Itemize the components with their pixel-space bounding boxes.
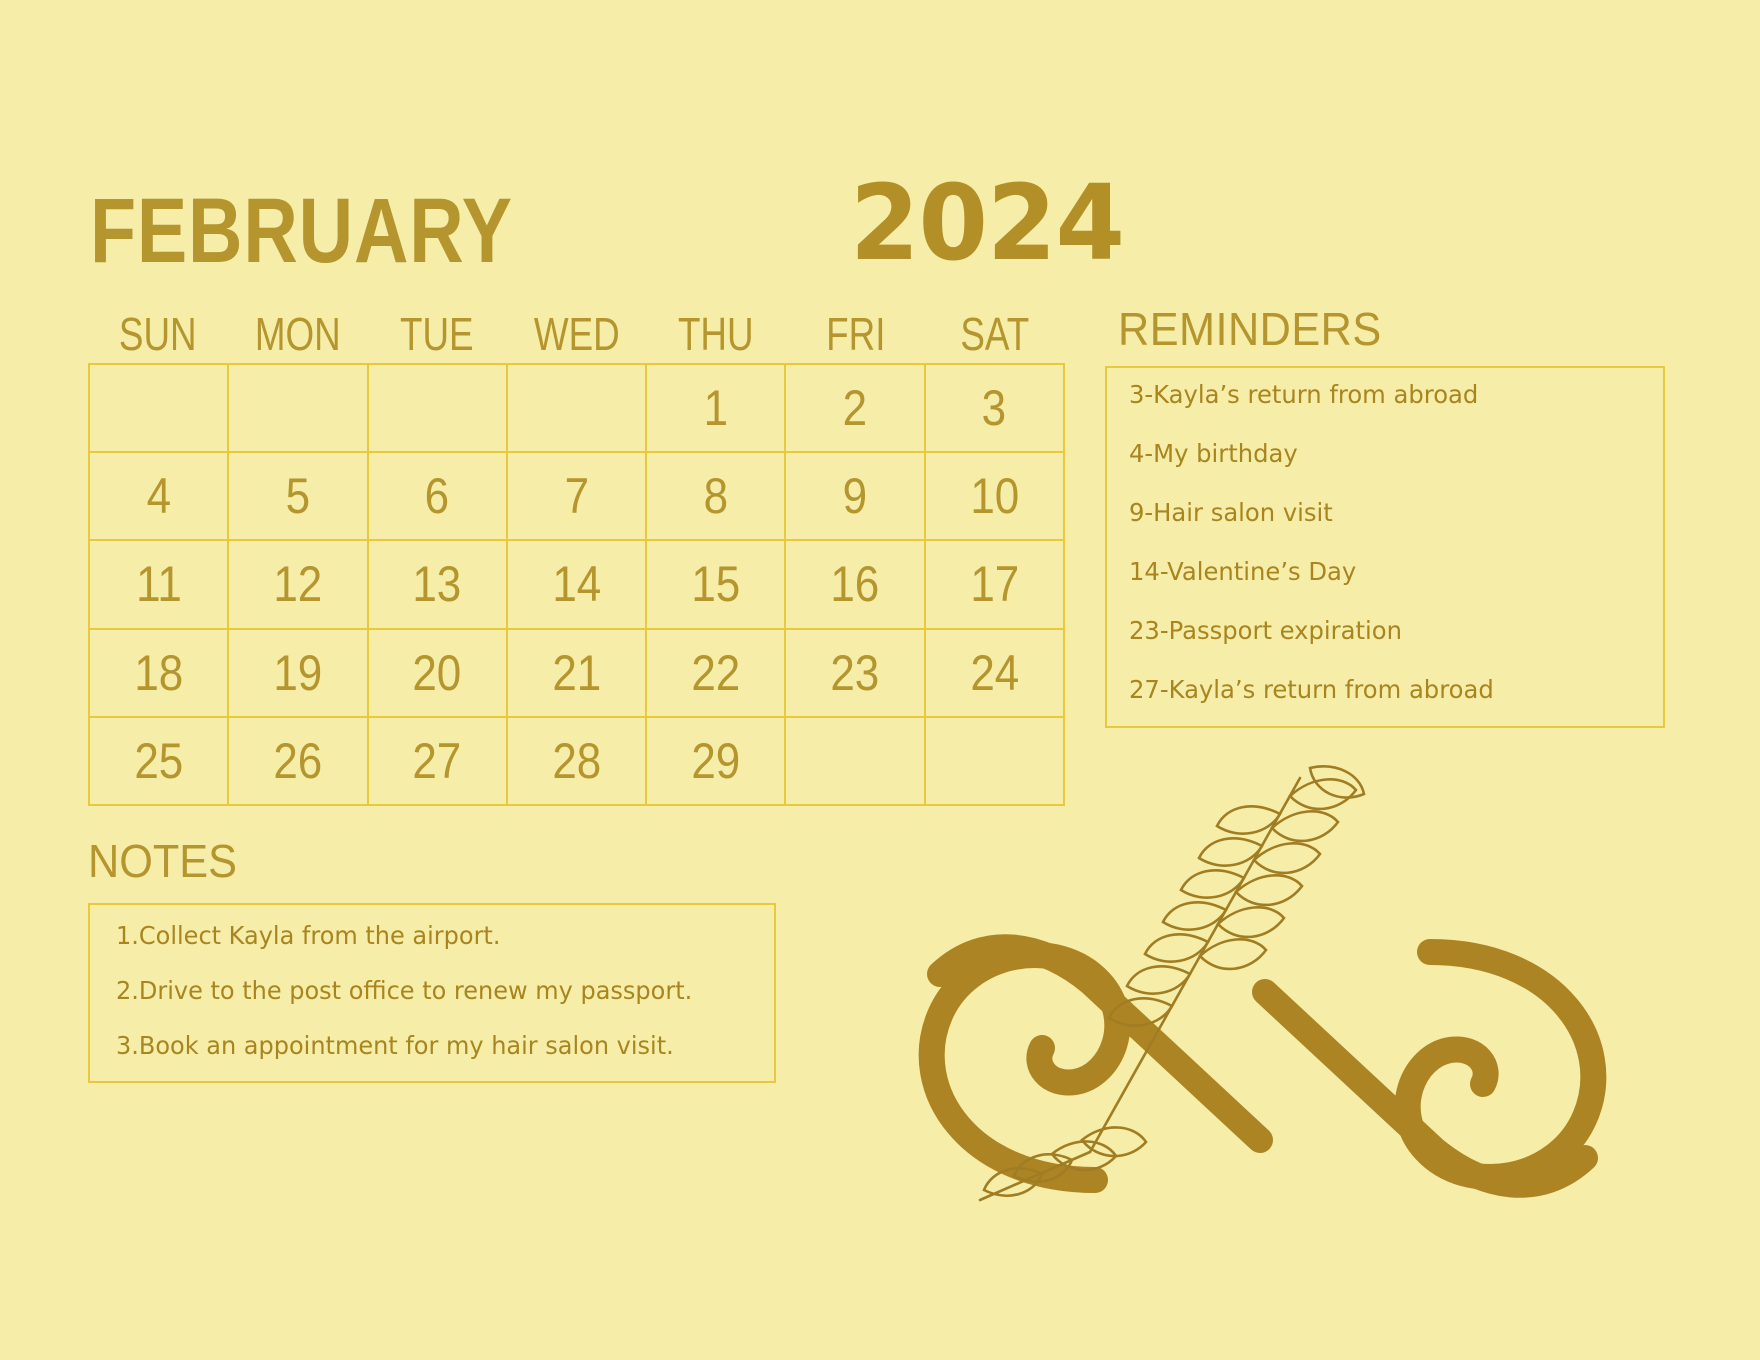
weekday-thu: THU (660, 311, 772, 357)
day-cell[interactable]: 14 (508, 541, 647, 629)
day-number: 6 (425, 471, 449, 521)
decorative-ornament (790, 760, 1690, 1220)
reminder-item: 23-Passport expiration (1129, 618, 1647, 643)
day-number: 14 (552, 559, 601, 609)
day-number: 10 (970, 471, 1019, 521)
day-number: 2 (843, 383, 867, 433)
day-cell[interactable]: 15 (647, 541, 786, 629)
day-number: 3 (982, 383, 1006, 433)
note-item: 1.Collect Kayla from the airport. (116, 923, 748, 948)
day-number: 19 (273, 648, 322, 698)
day-cell[interactable]: 2 (786, 365, 925, 453)
day-number: 16 (831, 559, 880, 609)
weekday-fri: FRI (800, 311, 912, 357)
day-cell[interactable]: 5 (229, 453, 368, 541)
day-cell[interactable]: 16 (786, 541, 925, 629)
day-cell[interactable]: 25 (90, 718, 229, 806)
page-title: FEBRUARY (90, 185, 513, 277)
day-cell[interactable]: 11 (90, 541, 229, 629)
day-number: 29 (691, 736, 740, 786)
note-item: 2.Drive to the post office to renew my p… (116, 978, 748, 1003)
weekday-tue: TUE (381, 311, 493, 357)
weekday-mon: MON (242, 311, 354, 357)
day-number: 20 (413, 648, 462, 698)
year-label: 2024 (850, 171, 1124, 275)
day-cell[interactable]: 7 (508, 453, 647, 541)
day-cell[interactable] (369, 365, 508, 453)
day-cell[interactable]: 29 (647, 718, 786, 806)
day-cell[interactable]: 3 (926, 365, 1065, 453)
day-number: 27 (413, 736, 462, 786)
day-number: 7 (564, 471, 588, 521)
day-cell[interactable] (90, 365, 229, 453)
day-number: 11 (136, 559, 182, 609)
day-cell[interactable]: 4 (90, 453, 229, 541)
weekday-header-row: SUN MON TUE WED THU FRI SAT (88, 305, 1065, 357)
day-cell[interactable]: 26 (229, 718, 368, 806)
notes-heading: NOTES (88, 838, 237, 884)
day-number: 22 (691, 648, 740, 698)
day-cell[interactable]: 20 (369, 630, 508, 718)
day-cell[interactable] (508, 365, 647, 453)
day-number: 5 (286, 471, 310, 521)
reminder-item: 3-Kayla’s return from abroad (1129, 382, 1647, 407)
reminder-item: 9-Hair salon visit (1129, 500, 1647, 525)
day-number: 25 (134, 736, 183, 786)
day-cell[interactable]: 28 (508, 718, 647, 806)
reminders-box: 3-Kayla’s return from abroad 4-My birthd… (1105, 366, 1665, 728)
weekday-sat: SAT (939, 311, 1051, 357)
day-number: 9 (843, 471, 867, 521)
day-cell[interactable]: 8 (647, 453, 786, 541)
day-number: 1 (704, 383, 728, 433)
calendar-header: FEBRUARY 2024 (90, 152, 1100, 277)
day-number: 13 (413, 559, 462, 609)
day-cell[interactable]: 24 (926, 630, 1065, 718)
day-cell[interactable]: 27 (369, 718, 508, 806)
day-cell[interactable]: 22 (647, 630, 786, 718)
day-number: 24 (970, 648, 1019, 698)
reminder-item: 4-My birthday (1129, 441, 1647, 466)
day-cell[interactable]: 10 (926, 453, 1065, 541)
calendar-grid: 1 2 3 4 5 6 7 8 9 10 11 12 13 14 15 16 1… (88, 363, 1065, 806)
day-cell[interactable] (926, 718, 1065, 806)
day-number: 28 (552, 736, 601, 786)
weekday-sun: SUN (102, 311, 214, 357)
reminders-heading: REMINDERS (1118, 306, 1382, 352)
note-item: 3.Book an appointment for my hair salon … (116, 1033, 748, 1058)
day-number: 12 (273, 559, 322, 609)
day-number: 15 (691, 559, 740, 609)
day-cell[interactable]: 17 (926, 541, 1065, 629)
day-number: 18 (134, 648, 183, 698)
day-number: 21 (552, 648, 601, 698)
day-cell[interactable]: 23 (786, 630, 925, 718)
day-cell[interactable]: 9 (786, 453, 925, 541)
day-cell[interactable]: 13 (369, 541, 508, 629)
day-cell[interactable]: 6 (369, 453, 508, 541)
day-number: 23 (831, 648, 880, 698)
day-cell[interactable]: 21 (508, 630, 647, 718)
day-cell[interactable]: 1 (647, 365, 786, 453)
day-cell[interactable]: 19 (229, 630, 368, 718)
day-cell[interactable]: 18 (90, 630, 229, 718)
day-number: 26 (273, 736, 322, 786)
infinity-flourish-icon (790, 760, 1690, 1220)
day-cell[interactable]: 12 (229, 541, 368, 629)
day-number: 8 (704, 471, 728, 521)
day-cell[interactable] (229, 365, 368, 453)
day-number: 4 (146, 471, 170, 521)
notes-box: 1.Collect Kayla from the airport. 2.Driv… (88, 903, 776, 1083)
reminder-item: 14-Valentine’s Day (1129, 559, 1647, 584)
day-number: 17 (970, 559, 1019, 609)
weekday-wed: WED (521, 311, 633, 357)
reminder-item: 27-Kayla’s return from abroad (1129, 677, 1647, 702)
day-cell[interactable] (786, 718, 925, 806)
